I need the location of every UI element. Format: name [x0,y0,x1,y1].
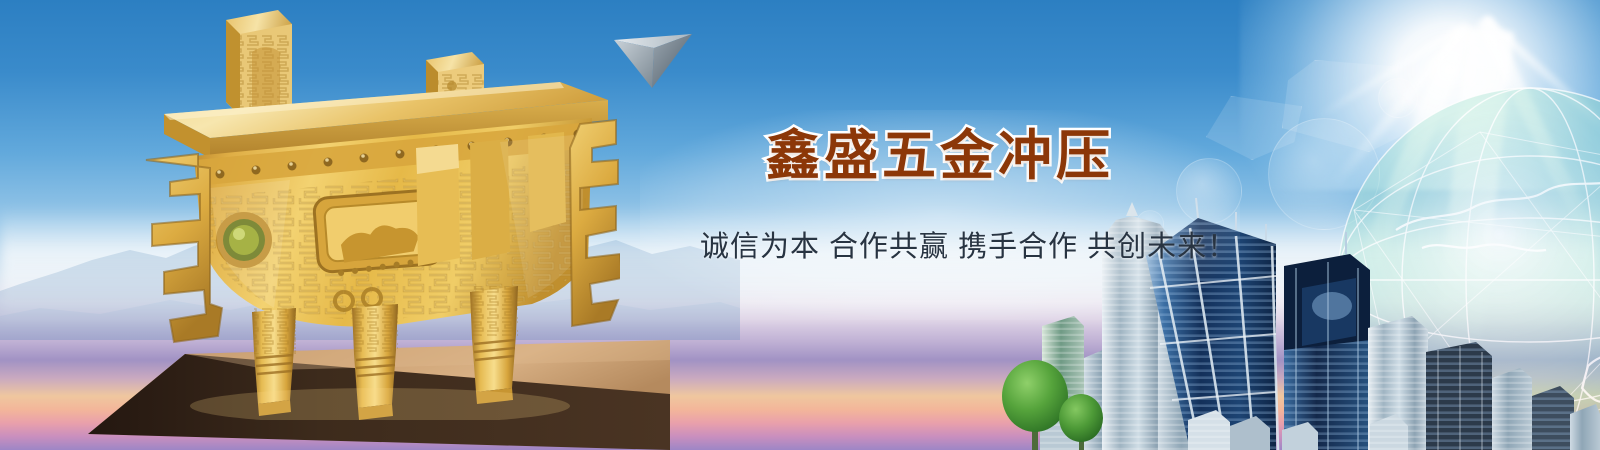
ding-leg-back-right [470,286,518,404]
building-far-right-c [1570,404,1600,450]
page-title: 鑫盛五金冲压 [700,128,1180,185]
building-far-right-a [1492,368,1532,450]
hero-banner: 鑫盛五金冲压 诚信为本 合作共赢 携手合作 共创未来！ [0,0,1600,450]
building-right-striped [1426,342,1492,450]
ding-flange-right [570,120,620,326]
page-subtitle: 诚信为本 合作共赢 携手合作 共创未来！ [700,223,1180,265]
building-far-right-b [1532,386,1574,450]
ding-ear-left [226,10,292,116]
ding-flange-left [146,154,222,342]
ding-cauldron-icon [140,8,620,420]
building-navy-slab [1284,232,1370,450]
hero-text-block: 鑫盛五金冲压 诚信为本 合作共赢 携手合作 共创未来！ [700,128,1180,265]
floating-pyramid-icon [612,30,694,90]
tree-pair-icon [985,355,1120,450]
